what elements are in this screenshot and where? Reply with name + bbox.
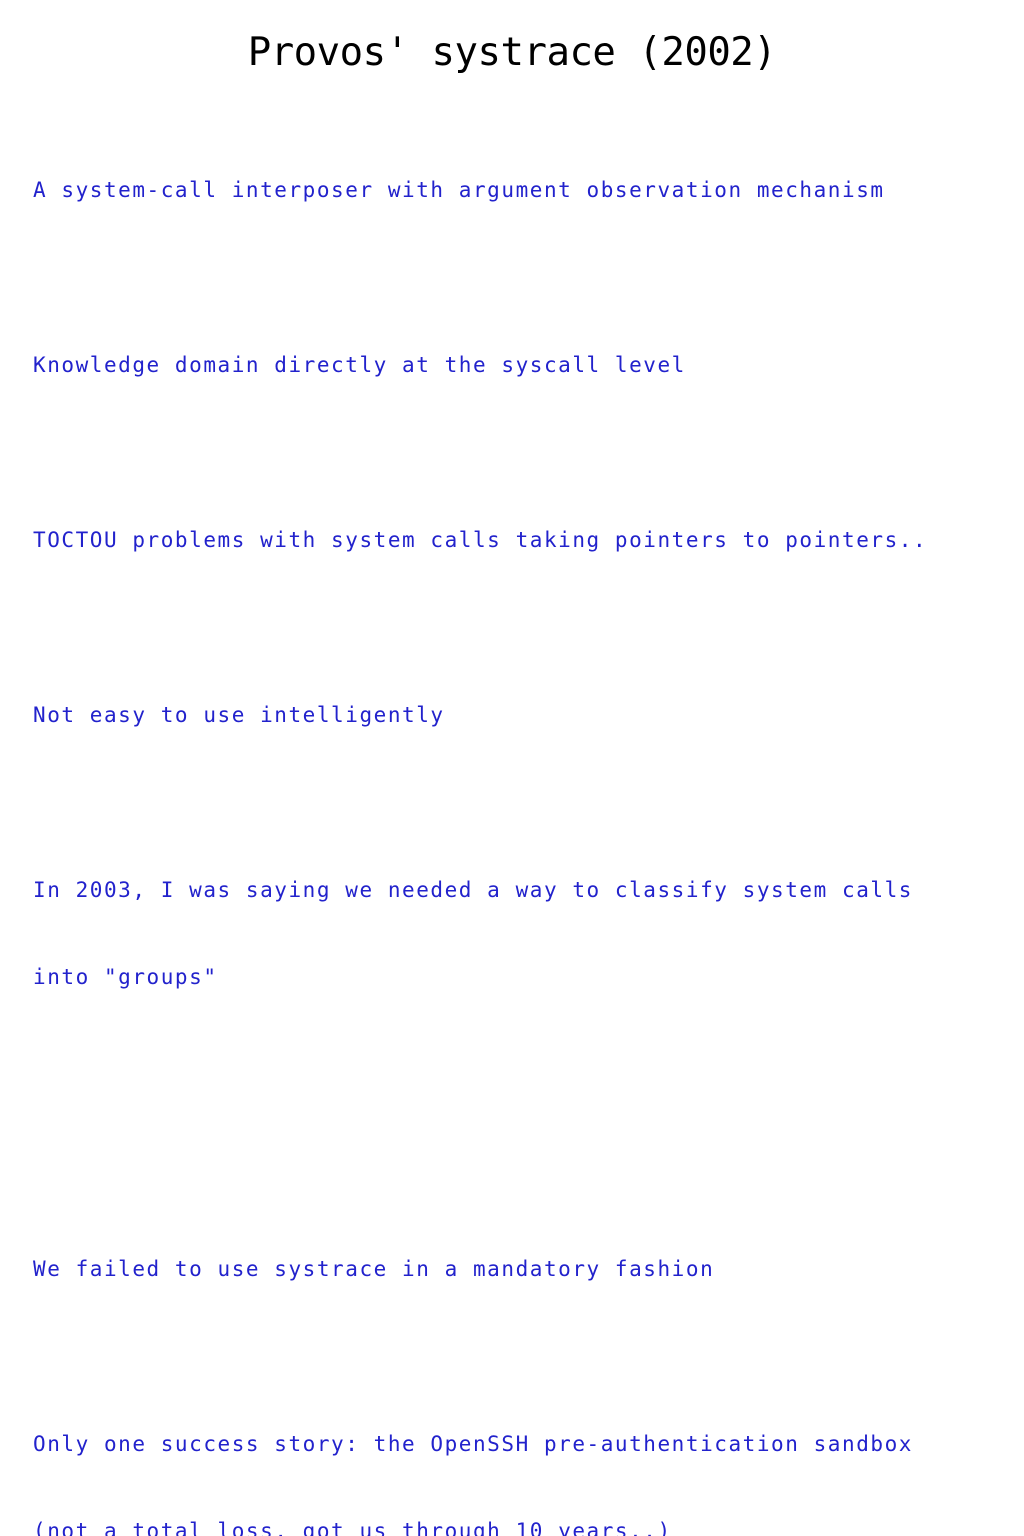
bullet-knowledge-domain: Knowledge domain directly at the syscall…	[33, 293, 993, 438]
bullet-classify-groups: In 2003, I was saying we needed a way to…	[33, 818, 993, 1050]
bullet-toctou: TOCTOU problems with system calls taking…	[33, 468, 993, 613]
bullet-knowledge-domain-line-1: Knowledge domain directly at the syscall…	[33, 351, 993, 380]
bullet-openssh-sandbox-line-1: Only one success story: the OpenSSH pre-…	[33, 1430, 993, 1459]
bullet-openssh-sandbox: Only one success story: the OpenSSH pre-…	[33, 1372, 993, 1536]
bullet-toctou-line-1: TOCTOU problems with system calls taking…	[33, 526, 993, 555]
bullet-classify-groups-line-1: In 2003, I was saying we needed a way to…	[33, 876, 993, 905]
presentation-slide: Provos' systrace (2002) A system-call in…	[0, 0, 1024, 768]
bullet-failed-mandatory: We failed to use systrace in a mandatory…	[33, 1197, 993, 1342]
page-title: Provos' systrace (2002)	[0, 29, 1024, 77]
bullet-openssh-sandbox-line-2: (not a total loss, got us through 10 yea…	[33, 1517, 993, 1536]
bullet-classify-groups-line-2: into "groups"	[33, 963, 993, 992]
bullet-not-easy-line-1: Not easy to use intelligently	[33, 701, 993, 730]
bullet-interposer-line-1: A system-call interposer with argument o…	[33, 176, 993, 205]
slide-body: A system-call interposer with argument o…	[33, 118, 993, 1536]
bullet-interposer: A system-call interposer with argument o…	[33, 118, 993, 263]
bullet-not-easy: Not easy to use intelligently	[33, 643, 993, 788]
bullet-failed-mandatory-line-1: We failed to use systrace in a mandatory…	[33, 1255, 993, 1284]
